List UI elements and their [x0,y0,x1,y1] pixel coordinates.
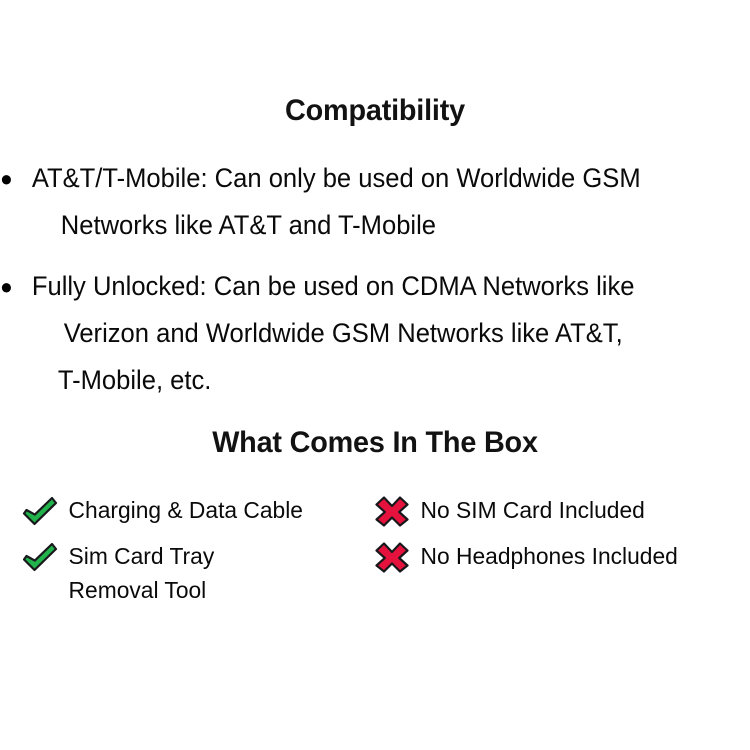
excluded-item-label: No SIM Card Included [374,493,733,527]
list-item: Sim Card Tray Removal Tool [22,539,372,607]
compatibility-list: ●AT&T/T-Mobile: Can only be used on Worl… [0,155,750,404]
excluded-item-label: No Headphones Included [374,539,733,573]
compatibility-item-text: AT&T/T-Mobile: Can only be used on World… [32,163,641,193]
compatibility-item-line: ●AT&T/T-Mobile: Can only be used on Worl… [0,155,724,202]
compatibility-heading: Compatibility [15,96,735,126]
list-item: No SIM Card Included [374,493,744,535]
list-item: Charging & Data Cable [22,493,372,535]
list-item: ●AT&T/T-Mobile: Can only be used on Worl… [0,155,750,249]
excluded-items-column: No SIM Card Included No Headphones Inclu… [374,493,744,585]
list-item: ●Fully Unlocked: Can be used on CDMA Net… [0,263,750,404]
included-items-column: Charging & Data Cable Sim Card Tray Remo… [22,493,372,611]
bullet-dot-icon: ● [0,155,32,202]
compatibility-item-text: Fully Unlocked: Can be used on CDMA Netw… [32,271,635,301]
included-item-label: Sim Card Tray Removal Tool [22,539,362,607]
compatibility-item-text: T-Mobile, etc. [0,357,724,404]
whats-in-the-box-heading: What Comes In The Box [15,428,735,458]
bullet-dot-icon: ● [0,263,32,310]
list-item: No Headphones Included [374,539,744,581]
compatibility-item-text: Verizon and Worldwide GSM Networks like … [0,310,724,357]
compatibility-item-text: Networks like AT&T and T-Mobile [0,202,724,249]
product-info-panel: Compatibility ●AT&T/T-Mobile: Can only b… [0,0,750,750]
excluded-item-label-line1: No Headphones Included [421,543,678,569]
included-item-label-line2: Removal Tool [69,573,362,607]
included-item-label: Charging & Data Cable [22,493,362,527]
included-item-label-line1: Charging & Data Cable [69,497,303,523]
included-item-label-line1: Sim Card Tray [69,543,215,569]
compatibility-item-line: ●Fully Unlocked: Can be used on CDMA Net… [0,263,724,310]
excluded-item-label-line1: No SIM Card Included [421,497,645,523]
